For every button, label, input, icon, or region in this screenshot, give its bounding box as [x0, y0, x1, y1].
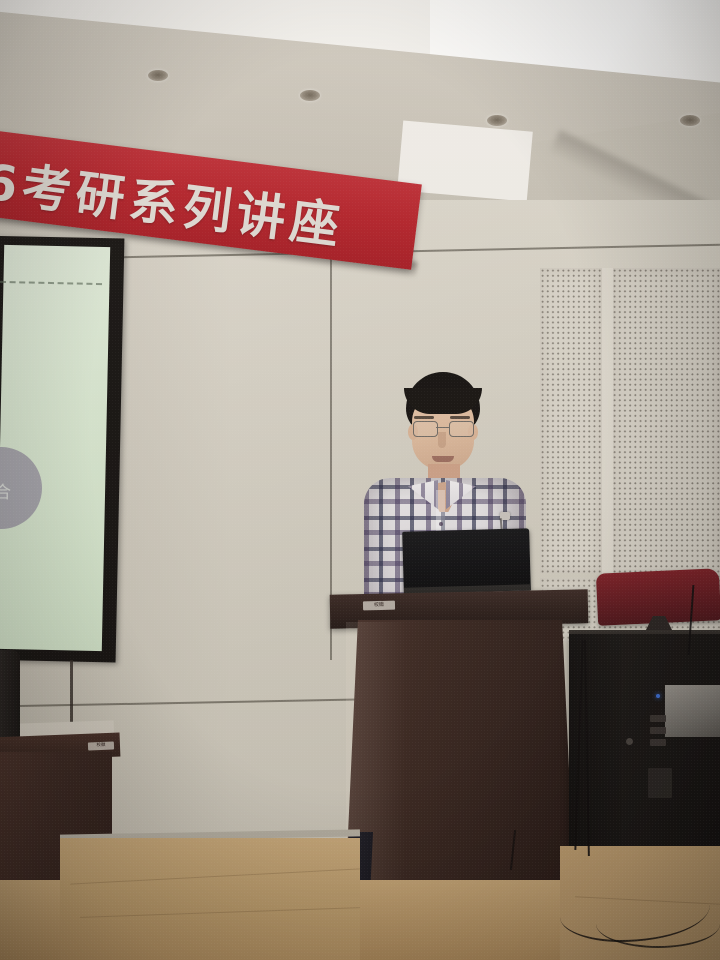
side-table-logo-badge: 校徽	[88, 742, 114, 751]
ceiling-downlight-icon	[300, 90, 320, 101]
ceiling-downlight-icon	[680, 115, 700, 126]
eyeglass-bridge	[436, 427, 449, 428]
av-rack-display-panel	[665, 685, 720, 737]
av-rack-slot	[650, 715, 666, 722]
podium-logo-badge: 校徽	[363, 601, 395, 611]
floor-left-area	[60, 838, 360, 960]
av-rack-status-led	[656, 694, 660, 698]
left-speaker-unit	[0, 650, 20, 742]
av-rack-module	[648, 768, 672, 798]
eyeglass-lens-right	[449, 421, 474, 437]
acoustic-panel-gap	[602, 268, 613, 580]
lecture-hall-photo: 合 6考研系列讲座 校徽	[0, 0, 720, 960]
av-rack-knob	[626, 738, 633, 745]
ceiling-downlight-icon	[148, 70, 168, 81]
presenter-mouth	[432, 456, 454, 462]
projection-screen-surface	[0, 245, 110, 651]
av-rack-slot	[650, 739, 666, 746]
acoustic-panel	[540, 268, 602, 573]
ceiling-downlight-icon	[487, 115, 507, 126]
presenter-eyebrow-right	[450, 416, 470, 419]
slide-circle-label: 合	[0, 478, 12, 503]
eyeglass-lens-left	[413, 421, 438, 437]
av-rack-slot	[650, 727, 666, 734]
acoustic-panel	[612, 268, 720, 580]
presenter-eyebrow-left	[414, 416, 434, 419]
floor-cable-loop	[596, 900, 720, 948]
presenter-nose	[438, 432, 446, 448]
shirt-button	[439, 522, 443, 526]
